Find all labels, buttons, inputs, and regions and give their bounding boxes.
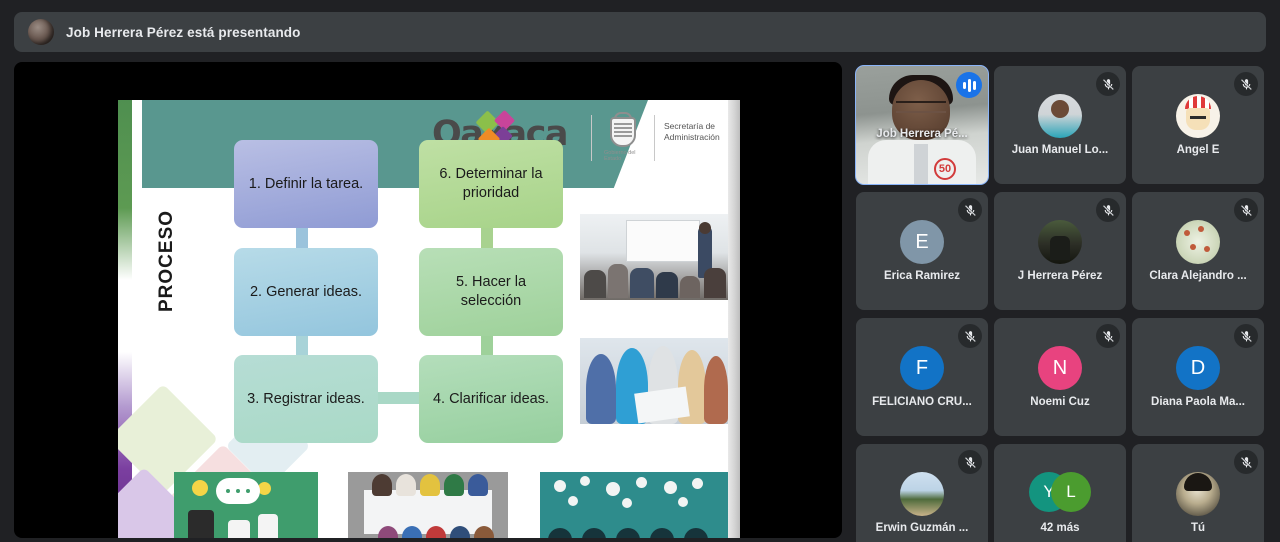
mic-muted-icon [958,324,982,348]
connector-3-4 [374,392,424,404]
participant-tile[interactable]: 50Job Herrera Pé... [856,66,988,184]
flow-step-1: 1. Definir la tarea. [234,140,378,228]
seal-caption: Gobierno del Estado [604,150,645,162]
government-seal-icon: Gobierno del Estado [601,112,645,162]
flow-step-6: 6. Determinar la prioridad [419,140,563,228]
participant-grid: 50Job Herrera Pé...Juan Manuel Lo...Ánge… [856,66,1268,538]
logo-divider [591,115,592,161]
overflow-avatars: YL [1029,472,1091,516]
secretary-line-2: Administración [664,132,726,143]
participant-name: Clara Alejandro ... [1132,270,1264,282]
avatar-photo [1038,220,1082,264]
mic-muted-icon [1234,198,1258,222]
participant-tile[interactable]: Juan Manuel Lo... [994,66,1126,184]
participant-tile[interactable]: FFELICIANO CRU... [856,318,988,436]
mic-muted-icon [1096,72,1120,96]
overflow-avatar-initial: L [1051,472,1091,512]
students-group-photo [580,338,728,424]
mic-muted-icon [1096,324,1120,348]
presenting-banner: Job Herrera Pérez está presentando [14,12,1266,52]
mic-muted-icon [1234,450,1258,474]
participant-name: J Herrera Pérez [994,270,1126,282]
mic-muted-icon [958,198,982,222]
avatar-initial: F [900,346,944,390]
slide-right-edge-strip [728,100,740,538]
participant-tile[interactable]: DDiana Paola Ma... [1132,318,1264,436]
shared-slide: Oaxaca IMOS EL CAMBIO Gobierno del Estad… [118,100,740,538]
avatar-photo [900,472,944,516]
badge-50: 50 [934,158,956,180]
participant-tile[interactable]: Ángel E [1132,66,1264,184]
participant-tile[interactable]: Clara Alejandro ... [1132,192,1264,310]
avatar-photo [1176,220,1220,264]
participant-tile[interactable]: NNoemi Cuz [994,318,1126,436]
participant-name: Erwin Guzmán ... [856,522,988,534]
flow-step-2: 2. Generar ideas. [234,248,378,336]
avatar-photo [1038,94,1082,138]
flow-step-4: 4. Clarificar ideas. [419,355,563,443]
mic-muted-icon [1096,198,1120,222]
participant-name: Erica Ramirez [856,270,988,282]
classroom-presentation-photo [580,214,728,300]
presentation-stage[interactable]: Oaxaca IMOS EL CAMBIO Gobierno del Estad… [14,62,842,538]
participant-tile[interactable]: Tú [1132,444,1264,542]
meet-presentation-screen: Job Herrera Pérez está presentando Oaxac… [0,0,1280,542]
participant-name: Tú [1132,522,1264,534]
participant-tile[interactable]: EErica Ramirez [856,192,988,310]
mic-muted-icon [958,450,982,474]
avatar-initial: N [1038,346,1082,390]
participant-name: FELICIANO CRU... [856,396,988,408]
participant-name: Juan Manuel Lo... [994,144,1126,156]
mic-muted-icon [1234,324,1258,348]
slide-left-accent-bar [118,100,132,538]
participant-tile[interactable]: YL42 más [994,444,1126,542]
participant-tile[interactable]: J Herrera Pérez [994,192,1126,310]
mic-muted-icon [1234,72,1258,96]
presenting-banner-label: Job Herrera Pérez está presentando [66,25,301,40]
participant-name: Noemi Cuz [994,396,1126,408]
secretary-label: Secretaría de Administración [664,121,726,144]
participant-tile[interactable]: Erwin Guzmán ... [856,444,988,542]
avatar-initial: E [900,220,944,264]
avatar-photo [1176,472,1220,516]
participant-name: Job Herrera Pé... [856,128,988,140]
flow-step-3: 3. Registrar ideas. [234,355,378,443]
ideas-network-illustration-teal [540,472,728,538]
presenter-avatar-icon [28,19,54,45]
avatar-photo [1176,94,1220,138]
proceso-vertical-label: PROCESO [156,210,178,312]
avatar-initial: D [1176,346,1220,390]
participant-name: Ángel E [1132,144,1264,156]
meeting-table-topview-photo [348,472,508,538]
participant-name: Diana Paola Ma... [1132,396,1264,408]
participant-name: 42 más [994,522,1126,534]
seal-divider [654,115,655,161]
flow-step-5: 5. Hacer la selección [419,248,563,336]
brainstorm-illustration-green [174,472,318,538]
audio-level-badge-icon [956,72,982,98]
secretary-line-1: Secretaría de [664,121,726,132]
